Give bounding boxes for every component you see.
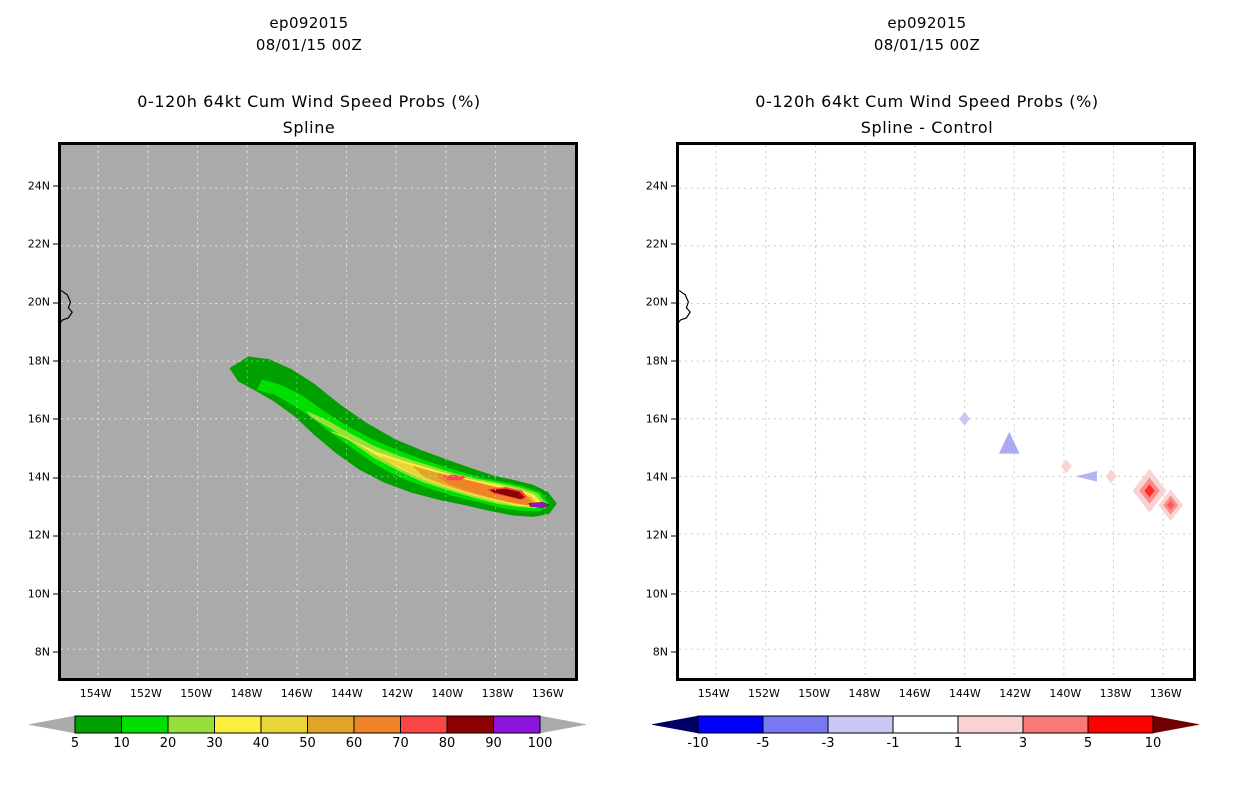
prob-colorbar-swatch-1[interactable] (122, 716, 169, 733)
diff-colorbar-swatch-3[interactable] (893, 716, 958, 733)
contour-bands (230, 357, 557, 517)
difference-markers (959, 412, 1183, 521)
diff-colorbar-swatch-4[interactable] (958, 716, 1023, 733)
diff-colorbar-tick--10: -10 (687, 736, 708, 751)
prob-colorbar-tick-100: 100 (528, 736, 553, 751)
y-tick-mark (671, 477, 676, 478)
x-axis-labels-left: 154W152W150W148W146W144W142W140W138W136W (58, 687, 578, 705)
y-tick-mark (53, 535, 58, 536)
x-tick-140W: 140W (1049, 687, 1081, 700)
x-tick-142W: 142W (999, 687, 1031, 700)
y-axis-labels-left: 8N10N12N14N16N18N20N22N24N (16, 142, 58, 681)
y-tick-mark (671, 535, 676, 536)
y-tick-mark (53, 244, 58, 245)
y-tick-label: 18N (646, 354, 668, 367)
y-tick-mark (53, 186, 58, 187)
difference-surface (679, 145, 1193, 678)
y-tick-label: 8N (35, 645, 50, 658)
y-tick-mark (671, 652, 676, 653)
x-axis-labels-right: 154W152W150W148W146W144W142W140W138W136W (676, 687, 1196, 705)
y-tick-16N: 16N (646, 412, 676, 425)
y-tick-8N: 8N (35, 645, 58, 658)
diff-colorbar-tick-1: 1 (954, 736, 962, 751)
coastline-hawaii-island-fragment (61, 290, 72, 322)
prob-colorbar-under-cap (29, 716, 75, 733)
y-tick-18N: 18N (646, 354, 676, 367)
diff-colorbar-tick--5: -5 (757, 736, 770, 751)
y-tick-14N: 14N (646, 471, 676, 484)
prob-colorbar-swatch-0[interactable] (75, 716, 122, 733)
y-tick-label: 8N (653, 645, 668, 658)
y-tick-20N: 20N (28, 296, 58, 309)
x-tick-138W: 138W (1100, 687, 1132, 700)
probability-colorbar[interactable]: 5102030405060708090100 (0, 704, 618, 774)
y-tick-mark (671, 419, 676, 420)
x-tick-142W: 142W (381, 687, 413, 700)
gridlines (679, 145, 1193, 678)
diff-colorbar-swatch-0[interactable] (698, 716, 763, 733)
panel-spline-minus-control: ep092015 08/01/15 00Z 0-120h 64kt Cum Wi… (618, 0, 1236, 800)
prob-colorbar-swatch-5[interactable] (308, 716, 355, 733)
y-tick-label: 16N (28, 412, 50, 425)
prob-colorbar-swatch-8[interactable] (447, 716, 494, 733)
y-tick-mark (53, 419, 58, 420)
diff-colorbar-tick--3: -3 (822, 736, 835, 751)
panel-left-storm-id: ep092015 (0, 14, 618, 32)
x-tick-144W: 144W (331, 687, 363, 700)
panel-left-cycle: 08/01/15 00Z (0, 36, 618, 54)
y-tick-24N: 24N (646, 179, 676, 192)
diff-colorbar-tick--1: -1 (887, 736, 900, 751)
panel-right-storm-id: ep092015 (618, 14, 1236, 32)
prob-colorbar-tick-30: 30 (206, 736, 223, 751)
y-tick-22N: 22N (646, 237, 676, 250)
prob-colorbar-swatch-7[interactable] (401, 716, 448, 733)
panel-spline: ep092015 08/01/15 00Z 0-120h 64kt Cum Wi… (0, 0, 618, 800)
diff-colorbar-under-cap (652, 716, 698, 733)
prob-colorbar-swatch-6[interactable] (354, 716, 401, 733)
y-tick-18N: 18N (28, 354, 58, 367)
prob-colorbar-swatch-3[interactable] (215, 716, 262, 733)
y-tick-label: 18N (28, 354, 50, 367)
prob-colorbar-swatch-2[interactable] (168, 716, 215, 733)
prob-colorbar-tick-70: 70 (392, 736, 409, 751)
y-tick-label: 24N (28, 179, 50, 192)
y-tick-mark (53, 594, 58, 595)
map-plot-spline[interactable] (58, 142, 578, 681)
y-tick-8N: 8N (653, 645, 676, 658)
x-tick-144W: 144W (949, 687, 981, 700)
prob-colorbar-swatch-4[interactable] (261, 716, 308, 733)
diff-colorbar-swatch-5[interactable] (1023, 716, 1088, 733)
y-tick-mark (53, 652, 58, 653)
x-tick-136W: 136W (1150, 687, 1182, 700)
difference-colorbar[interactable]: -10-5-3-113510 (618, 704, 1236, 774)
prob-colorbar-tick-80: 80 (439, 736, 456, 751)
x-tick-148W: 148W (230, 687, 262, 700)
y-tick-label: 16N (646, 412, 668, 425)
map-plot-difference[interactable] (676, 142, 1196, 681)
y-tick-24N: 24N (28, 179, 58, 192)
y-tick-14N: 14N (28, 471, 58, 484)
y-tick-mark (671, 186, 676, 187)
y-tick-12N: 12N (646, 529, 676, 542)
diff-colorbar-swatches (618, 704, 1236, 748)
prob-colorbar-swatch-9[interactable] (494, 716, 541, 733)
figure-canvas: ep092015 08/01/15 00Z 0-120h 64kt Cum Wi… (0, 0, 1236, 800)
y-tick-mark (671, 594, 676, 595)
x-tick-154W: 154W (80, 687, 112, 700)
diff-colorbar-swatch-1[interactable] (763, 716, 828, 733)
diff-marker-pos-2 (1061, 459, 1072, 473)
x-tick-140W: 140W (431, 687, 463, 700)
coastline (61, 290, 72, 322)
y-tick-label: 22N (28, 237, 50, 250)
prob-colorbar-tick-10: 10 (113, 736, 130, 751)
coastline-hawaii-island-fragment (679, 290, 690, 322)
y-tick-label: 10N (646, 587, 668, 600)
y-tick-label: 14N (28, 471, 50, 484)
diff-colorbar-tick-3: 3 (1019, 736, 1027, 751)
panel-left-product-title: 0-120h 64kt Cum Wind Speed Probs (%) (0, 92, 618, 111)
prob-colorbar-tick-90: 90 (485, 736, 502, 751)
x-tick-146W: 146W (899, 687, 931, 700)
prob-colorbar-tick-50: 50 (299, 736, 316, 751)
y-tick-label: 24N (646, 179, 668, 192)
y-tick-label: 10N (28, 587, 50, 600)
diff-colorbar-tick-5: 5 (1084, 736, 1092, 751)
y-tick-12N: 12N (28, 529, 58, 542)
x-tick-146W: 146W (281, 687, 313, 700)
x-tick-138W: 138W (482, 687, 514, 700)
y-tick-mark (53, 361, 58, 362)
x-tick-150W: 150W (180, 687, 212, 700)
y-tick-label: 12N (646, 529, 668, 542)
prob-colorbar-tick-20: 20 (160, 736, 177, 751)
panel-left-method-title: Spline (0, 118, 618, 137)
y-tick-label: 20N (646, 296, 668, 309)
y-tick-mark (671, 244, 676, 245)
contour-surface-spline (61, 145, 575, 678)
y-tick-10N: 10N (28, 587, 58, 600)
y-tick-20N: 20N (646, 296, 676, 309)
x-tick-150W: 150W (798, 687, 830, 700)
y-tick-10N: 10N (646, 587, 676, 600)
x-tick-148W: 148W (848, 687, 880, 700)
y-tick-mark (53, 302, 58, 303)
diff-marker-neg-3 (1076, 471, 1097, 482)
prob-colorbar-tick-40: 40 (253, 736, 270, 751)
x-tick-152W: 152W (130, 687, 162, 700)
x-tick-152W: 152W (748, 687, 780, 700)
y-axis-labels-right: 8N10N12N14N16N18N20N22N24N (634, 142, 676, 681)
y-tick-22N: 22N (28, 237, 58, 250)
y-tick-label: 20N (28, 296, 50, 309)
y-tick-label: 22N (646, 237, 668, 250)
y-tick-label: 14N (646, 471, 668, 484)
diff-marker-pos-4 (1106, 469, 1117, 483)
panel-right-product-title: 0-120h 64kt Cum Wind Speed Probs (%) (618, 92, 1236, 111)
diff-marker-neg-0 (959, 412, 970, 426)
diff-colorbar-swatch-2[interactable] (828, 716, 893, 733)
y-tick-mark (53, 477, 58, 478)
diff-colorbar-swatch-6[interactable] (1088, 716, 1153, 733)
y-tick-label: 12N (28, 529, 50, 542)
y-tick-mark (671, 361, 676, 362)
y-tick-16N: 16N (28, 412, 58, 425)
panel-right-method-title: Spline - Control (618, 118, 1236, 137)
panel-right-cycle: 08/01/15 00Z (618, 36, 1236, 54)
diff-marker-neg-1 (999, 432, 1020, 454)
diff-colorbar-tick-10: 10 (1145, 736, 1162, 751)
y-tick-mark (671, 302, 676, 303)
x-tick-154W: 154W (698, 687, 730, 700)
prob-colorbar-tick-60: 60 (346, 736, 363, 751)
x-tick-136W: 136W (532, 687, 564, 700)
prob-colorbar-tick-5: 5 (71, 736, 79, 751)
prob-colorbar-over-cap (540, 716, 586, 733)
coastline (679, 290, 690, 322)
diff-colorbar-over-cap (1153, 716, 1199, 733)
